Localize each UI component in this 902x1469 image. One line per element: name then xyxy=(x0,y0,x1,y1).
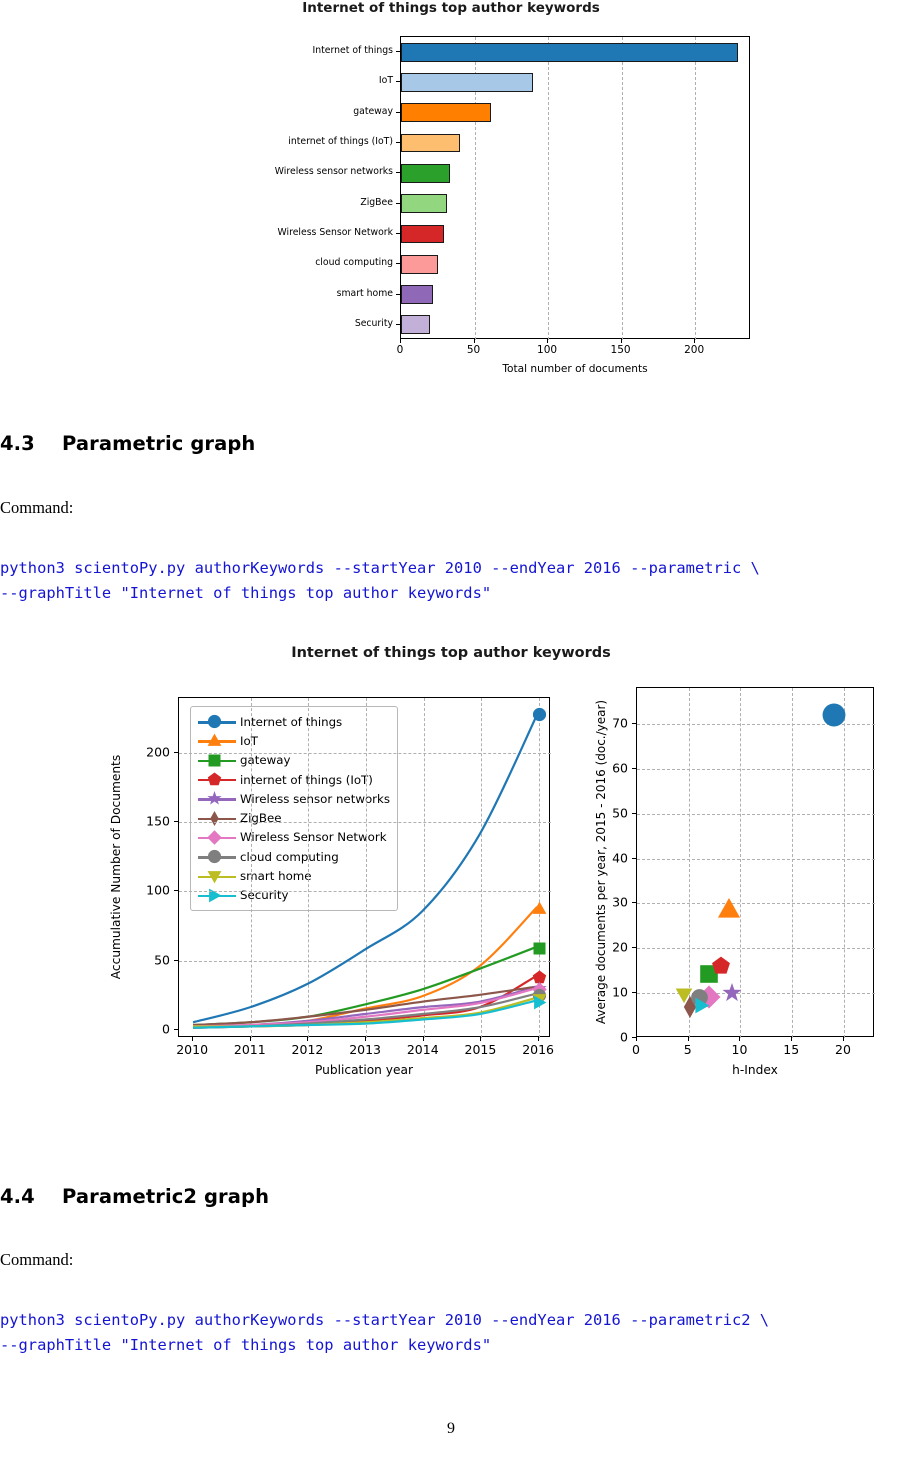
heading-4-3-title: Parametric graph xyxy=(62,432,255,455)
bar xyxy=(401,255,438,274)
x-tick-label: 10 xyxy=(732,1042,748,1057)
command-code-4-4-line2: --graphTitle "Internet of things top aut… xyxy=(0,1333,491,1358)
y-tick-label: 40 xyxy=(612,850,628,865)
y-tick xyxy=(396,81,400,82)
bar-chart-x-axis-title: Total number of documents xyxy=(502,363,647,375)
y-tick-label: 10 xyxy=(612,985,628,1000)
x-tick-label: 150 xyxy=(611,344,631,356)
x-tick xyxy=(423,1037,424,1041)
scatter-point xyxy=(675,986,693,1004)
bar-category-label: Wireless sensor networks xyxy=(275,166,393,177)
y-tick xyxy=(396,172,400,173)
parametric-chart-title: Internet of things top author keywords xyxy=(0,645,902,661)
gridline-vertical xyxy=(622,37,623,340)
bar-chart-plot-area xyxy=(400,36,750,339)
line-end-marker xyxy=(532,941,547,956)
gridline-horizontal xyxy=(637,769,875,770)
bar-category-label: internet of things (IoT) xyxy=(288,136,393,147)
scatter-chart-x-axis-title: h-Index xyxy=(732,1063,778,1077)
y-tick xyxy=(174,960,178,961)
gridline-vertical xyxy=(844,688,845,1038)
x-tick xyxy=(538,1037,539,1041)
x-tick-label: 2011 xyxy=(234,1042,266,1057)
y-tick-label: 50 xyxy=(612,805,628,820)
bar xyxy=(401,225,444,244)
gridline-horizontal xyxy=(637,859,875,860)
y-tick xyxy=(396,263,400,264)
x-tick xyxy=(694,339,695,343)
y-tick xyxy=(174,821,178,822)
bar xyxy=(401,73,533,92)
x-tick xyxy=(480,1037,481,1041)
line-end-marker xyxy=(532,707,547,722)
scatter-chart-y-axis-title: Average documents per year, 2015 - 2016 … xyxy=(594,700,608,1024)
x-tick-label: 2014 xyxy=(407,1042,439,1057)
x-tick xyxy=(739,1037,740,1041)
y-tick xyxy=(632,902,636,903)
bar-chart-title: Internet of things top author keywords xyxy=(0,0,902,16)
figure-parametric: Internet of things top author keywords I… xyxy=(0,645,902,1155)
line-end-marker xyxy=(532,901,547,916)
bar-category-label: Security xyxy=(355,318,393,329)
gridline-horizontal xyxy=(637,814,875,815)
x-tick-label: 0 xyxy=(397,344,404,356)
bar xyxy=(401,103,491,122)
scatter-chart-plot-area xyxy=(636,687,874,1037)
page-number: 9 xyxy=(0,1420,902,1438)
line-chart-y-axis-title: Accumulative Number of Documents xyxy=(109,755,123,979)
x-tick xyxy=(250,1037,251,1041)
scatter-point xyxy=(722,983,742,1003)
y-tick xyxy=(632,858,636,859)
bar-category-label: Wireless Sensor Network xyxy=(278,227,394,238)
y-tick-label: 100 xyxy=(146,883,170,898)
y-tick xyxy=(632,723,636,724)
heading-4-4: 4.4Parametric2 graph xyxy=(0,1185,269,1208)
y-tick-label: 200 xyxy=(146,745,170,760)
line-series xyxy=(193,714,537,1022)
bar-category-label: ZigBee xyxy=(360,197,393,208)
scatter-point xyxy=(711,956,731,976)
x-tick xyxy=(843,1037,844,1041)
figure-top-keywords-bar: Internet of things top author keywords I… xyxy=(0,0,902,395)
heading-4-3-number: 4.3 xyxy=(0,432,62,455)
x-tick xyxy=(621,339,622,343)
x-tick-label: 5 xyxy=(684,1042,692,1057)
y-tick xyxy=(396,142,400,143)
x-tick xyxy=(400,339,401,343)
x-tick-label: 2013 xyxy=(349,1042,381,1057)
command-label-4-3: Command: xyxy=(0,498,73,518)
gridline-horizontal xyxy=(637,948,875,949)
y-tick xyxy=(174,752,178,753)
x-tick xyxy=(547,339,548,343)
x-tick-label: 15 xyxy=(783,1042,799,1057)
scatter-point xyxy=(693,997,710,1014)
y-tick xyxy=(396,324,400,325)
gridline-horizontal xyxy=(637,903,875,904)
scatter-point xyxy=(821,702,847,728)
x-tick-label: 0 xyxy=(632,1042,640,1057)
line-end-marker xyxy=(532,995,547,1010)
gridline-vertical xyxy=(792,688,793,1038)
x-tick-label: 50 xyxy=(467,344,480,356)
bar xyxy=(401,164,450,183)
line-chart-x-axis-title: Publication year xyxy=(315,1063,413,1077)
y-tick-label: 50 xyxy=(154,952,170,967)
x-tick-label: 2016 xyxy=(522,1042,554,1057)
bar-category-label: cloud computing xyxy=(315,257,393,268)
gridline-vertical xyxy=(695,37,696,340)
y-tick xyxy=(174,1029,178,1030)
bar-category-label: IoT xyxy=(379,75,393,86)
heading-4-3: 4.3Parametric graph xyxy=(0,432,255,455)
y-tick xyxy=(396,203,400,204)
bar xyxy=(401,285,433,304)
y-tick xyxy=(174,890,178,891)
x-tick xyxy=(791,1037,792,1041)
command-code-4-3-line2: --graphTitle "Internet of things top aut… xyxy=(0,581,491,606)
bar-category-label: Internet of things xyxy=(312,45,393,56)
x-tick-label: 2012 xyxy=(292,1042,324,1057)
x-tick xyxy=(688,1037,689,1041)
bar xyxy=(401,194,447,213)
command-code-4-3-line1: python3 scientoPy.py authorKeywords --st… xyxy=(0,556,760,581)
document-page: Internet of things top author keywords I… xyxy=(0,0,902,1469)
bar-category-label: gateway xyxy=(353,106,393,117)
line-chart-plot-area: Internet of thingsIoTgatewayinternet of … xyxy=(178,697,550,1037)
y-tick xyxy=(396,294,400,295)
bar xyxy=(401,134,460,153)
bar xyxy=(401,43,738,62)
y-tick-label: 0 xyxy=(620,1030,628,1045)
line-series-group xyxy=(179,698,549,1036)
x-tick xyxy=(307,1037,308,1041)
bar xyxy=(401,315,430,334)
y-tick-label: 70 xyxy=(612,715,628,730)
x-tick-label: 2010 xyxy=(176,1042,208,1057)
y-tick xyxy=(632,947,636,948)
heading-4-4-title: Parametric2 graph xyxy=(62,1185,269,1208)
gridline-vertical xyxy=(548,37,549,340)
x-tick xyxy=(192,1037,193,1041)
x-tick-label: 100 xyxy=(537,344,557,356)
command-code-4-4-line1: python3 scientoPy.py authorKeywords --st… xyxy=(0,1308,769,1333)
x-tick xyxy=(365,1037,366,1041)
x-tick xyxy=(636,1037,637,1041)
y-tick xyxy=(632,992,636,993)
x-tick-label: 2015 xyxy=(465,1042,497,1057)
x-tick-label: 200 xyxy=(684,344,704,356)
y-tick xyxy=(632,813,636,814)
scatter-point xyxy=(717,897,741,921)
y-tick-label: 60 xyxy=(612,760,628,775)
y-tick-label: 150 xyxy=(146,814,170,829)
x-tick-label: 20 xyxy=(835,1042,851,1057)
heading-4-4-number: 4.4 xyxy=(0,1185,62,1208)
x-tick xyxy=(474,339,475,343)
y-tick-label: 0 xyxy=(162,1021,170,1036)
gridline-horizontal xyxy=(637,993,875,994)
y-tick xyxy=(396,233,400,234)
y-tick-label: 20 xyxy=(612,940,628,955)
y-tick xyxy=(396,51,400,52)
command-label-4-4: Command: xyxy=(0,1250,73,1270)
y-tick-label: 30 xyxy=(612,895,628,910)
y-tick xyxy=(632,768,636,769)
bar-category-label: smart home xyxy=(337,288,393,299)
y-tick xyxy=(396,112,400,113)
